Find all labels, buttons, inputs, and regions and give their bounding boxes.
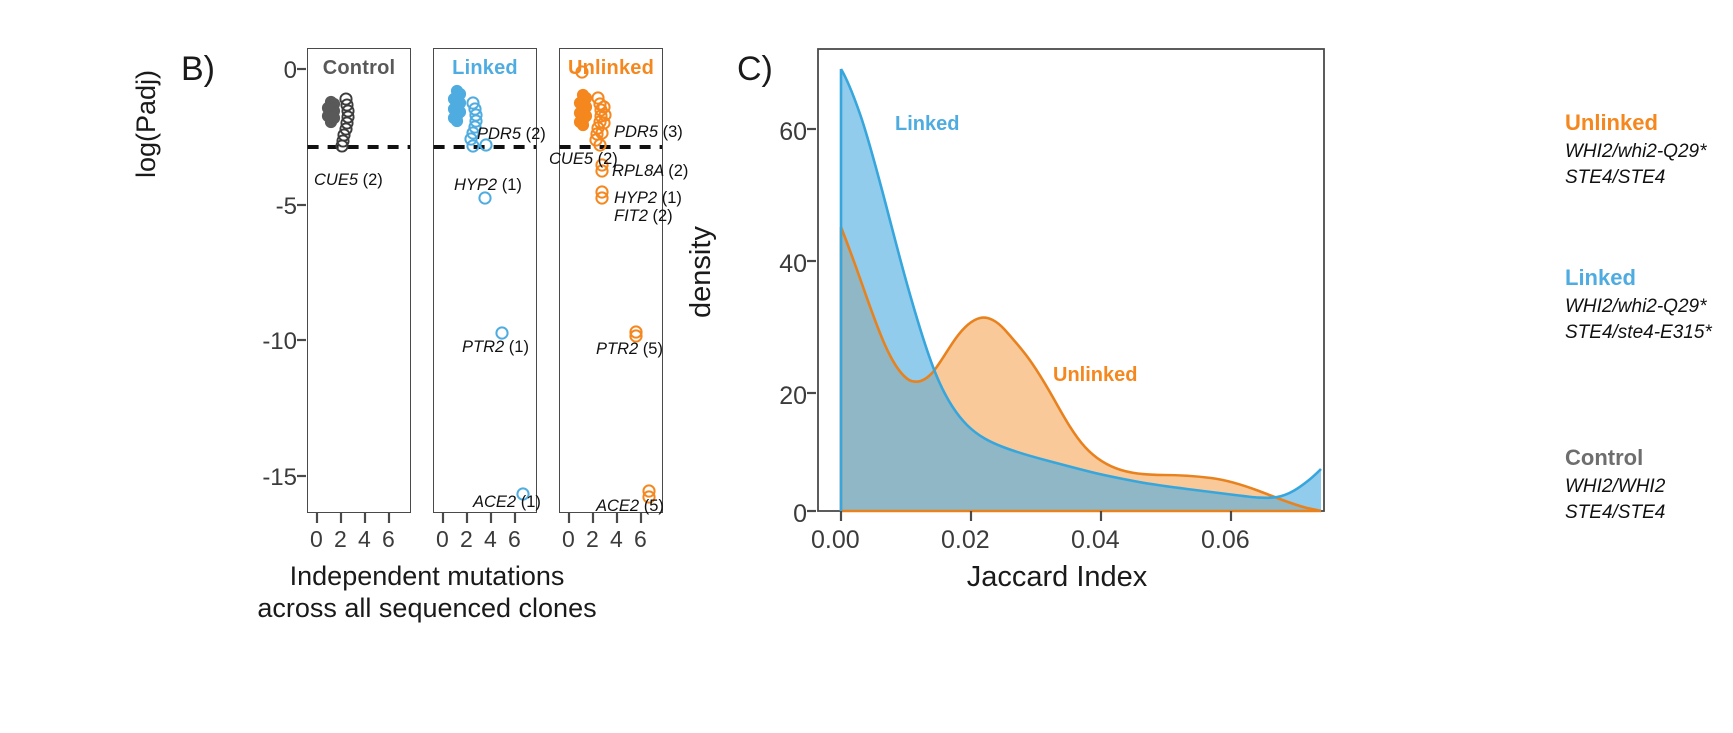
gene-count: (1): [502, 176, 522, 194]
gene-name: CUE5: [549, 150, 593, 168]
gene-name: RPL8A: [612, 162, 664, 180]
legend-unlinked-line-1: STE4/STE4: [1565, 165, 1707, 191]
gene-count: (3): [663, 123, 683, 141]
gene-count: (2): [668, 162, 688, 180]
gene-name: CUE5: [314, 171, 358, 189]
gene-name: FIT2: [614, 207, 648, 225]
panel-c-letter: C): [737, 50, 773, 89]
legend-linked-line-1: STE4/ste4-E315*: [1565, 320, 1712, 346]
gene-name: PDR5: [477, 125, 521, 143]
panel-b-y-axis-label: log(Padj): [131, 70, 162, 178]
gene-count: (1): [521, 493, 541, 511]
legend-control-line-0: WHI2/WHI2: [1565, 474, 1665, 500]
facet-unlinked: Unlinked: [559, 48, 663, 513]
facet-control-gene-label-0: CUE5 (2): [314, 171, 383, 190]
panel-b-f0-xtick-3: 6: [382, 526, 395, 553]
facet-unlinked-gene-label-1: CUE5 (2): [549, 150, 618, 169]
facet-unlinked-plot: [558, 47, 662, 512]
panel-c-xtick-3: 0.06: [1201, 526, 1250, 555]
gene-count: (5): [643, 340, 663, 358]
panel-c-ytick-60: 60: [717, 118, 807, 147]
panel-c-x-axis-label: Jaccard Index: [777, 561, 1337, 594]
panel-c-xtick-0: 0.00: [811, 526, 860, 555]
facet-control-plot: [306, 47, 410, 512]
facet-linked-gene-label-3: ACE2 (1): [473, 493, 541, 512]
panel-b-f1-xtick-3: 6: [508, 526, 521, 553]
panel-b-f0-xtick-1: 2: [334, 526, 347, 553]
panel-c-y-axis-label: density: [685, 226, 718, 318]
panel-b-f2-xtick-0: 0: [562, 526, 575, 553]
panel-b-f2-xtick-1: 2: [586, 526, 599, 553]
panel-b-ytick-0: 0: [197, 57, 297, 85]
facet-unlinked-gene-label-4: FIT2 (2): [614, 207, 673, 226]
panel-b-f0-xtick-0: 0: [310, 526, 323, 553]
gene-name: HYP2: [454, 176, 497, 194]
panel-c-ytick-40: 40: [717, 250, 807, 279]
gene-name: PTR2: [596, 340, 638, 358]
facet-control: Control: [307, 48, 411, 513]
panel-c-unlinked-tag: Unlinked: [1053, 364, 1137, 387]
legend-unlinked-line-0: WHI2/whi2-Q29*: [1565, 139, 1707, 165]
legend-unlinked-title: Unlinked: [1565, 110, 1707, 136]
gene-count: (2): [363, 171, 383, 189]
panel-b-f1-xtick-1: 2: [460, 526, 473, 553]
gene-name: HYP2: [614, 189, 657, 207]
gene-count: (2): [526, 125, 546, 143]
panel-c-xtick-2: 0.04: [1071, 526, 1120, 555]
panel-b-f1-xtick-0: 0: [436, 526, 449, 553]
facet-unlinked-gene-label-5: PTR2 (5): [596, 340, 663, 359]
gene-count: (2): [653, 207, 673, 225]
panel-c-linked-tag: Linked: [895, 113, 959, 136]
legend-group-unlinked: Unlinked WHI2/whi2-Q29* STE4/STE4: [1565, 110, 1707, 190]
facet-linked-plot: [432, 47, 536, 512]
panel-b-f2-xtick-2: 4: [610, 526, 623, 553]
panel-b-ytick-2: -10: [197, 328, 297, 356]
panel-c-ytick-20: 20: [717, 382, 807, 411]
panel-b-x-axis-label-line1: Independent mutations: [167, 561, 687, 593]
panel-c-x-tickmarks: [817, 511, 1325, 523]
panel-b-f0-xtick-2: 4: [358, 526, 371, 553]
panel-b-ytick-3: -15: [197, 464, 297, 492]
gene-count: (1): [509, 338, 529, 356]
panel-b-ytick-1: -5: [197, 193, 297, 221]
facet-unlinked-gene-label-0: PDR5 (3): [614, 123, 683, 142]
panel-c-y-tickmarks: [807, 48, 817, 528]
facet-linked-gene-label-1: HYP2 (1): [454, 176, 522, 195]
panel-c-ytick-0: 0: [717, 500, 807, 529]
panel-b-x-axis-label-line2: across all sequenced clones: [167, 593, 687, 625]
panel-b-x-tickmarks: [307, 513, 767, 525]
gene-name: ACE2: [473, 493, 516, 511]
legend-control-line-1: STE4/STE4: [1565, 500, 1665, 526]
gene-name: PDR5: [614, 123, 658, 141]
panel-b-f1-xtick-2: 4: [484, 526, 497, 553]
panel-c: C) density 60 40 20 0: [735, 28, 1335, 628]
legend-group-control: Control WHI2/WHI2 STE4/STE4: [1565, 445, 1665, 525]
panel-c-density-plot: [817, 48, 1325, 533]
facet-linked: Linked: [433, 48, 537, 513]
facet-unlinked-gene-label-2: RPL8A (2): [612, 162, 688, 181]
legend-control-title: Control: [1565, 445, 1665, 471]
facet-linked-gene-label-2: PTR2 (1): [462, 338, 529, 357]
gene-name: PTR2: [462, 338, 504, 356]
facet-linked-gene-label-0: PDR5 (2): [477, 125, 546, 144]
facet-unlinked-gene-label-3: HYP2 (1): [614, 189, 682, 208]
panel-c-xtick-1: 0.02: [941, 526, 990, 555]
panel-b-f2-xtick-3: 6: [634, 526, 647, 553]
legend-linked-title: Linked: [1565, 265, 1712, 291]
panel-b: B) log(Padj) 0 -5 -10 -15 Control: [185, 28, 705, 628]
legend-group-linked: Linked WHI2/whi2-Q29* STE4/ste4-E315*: [1565, 265, 1712, 345]
figure-root: B) log(Padj) 0 -5 -10 -15 Control: [0, 0, 1733, 733]
gene-count: (1): [662, 189, 682, 207]
legend-linked-line-0: WHI2/whi2-Q29*: [1565, 294, 1712, 320]
